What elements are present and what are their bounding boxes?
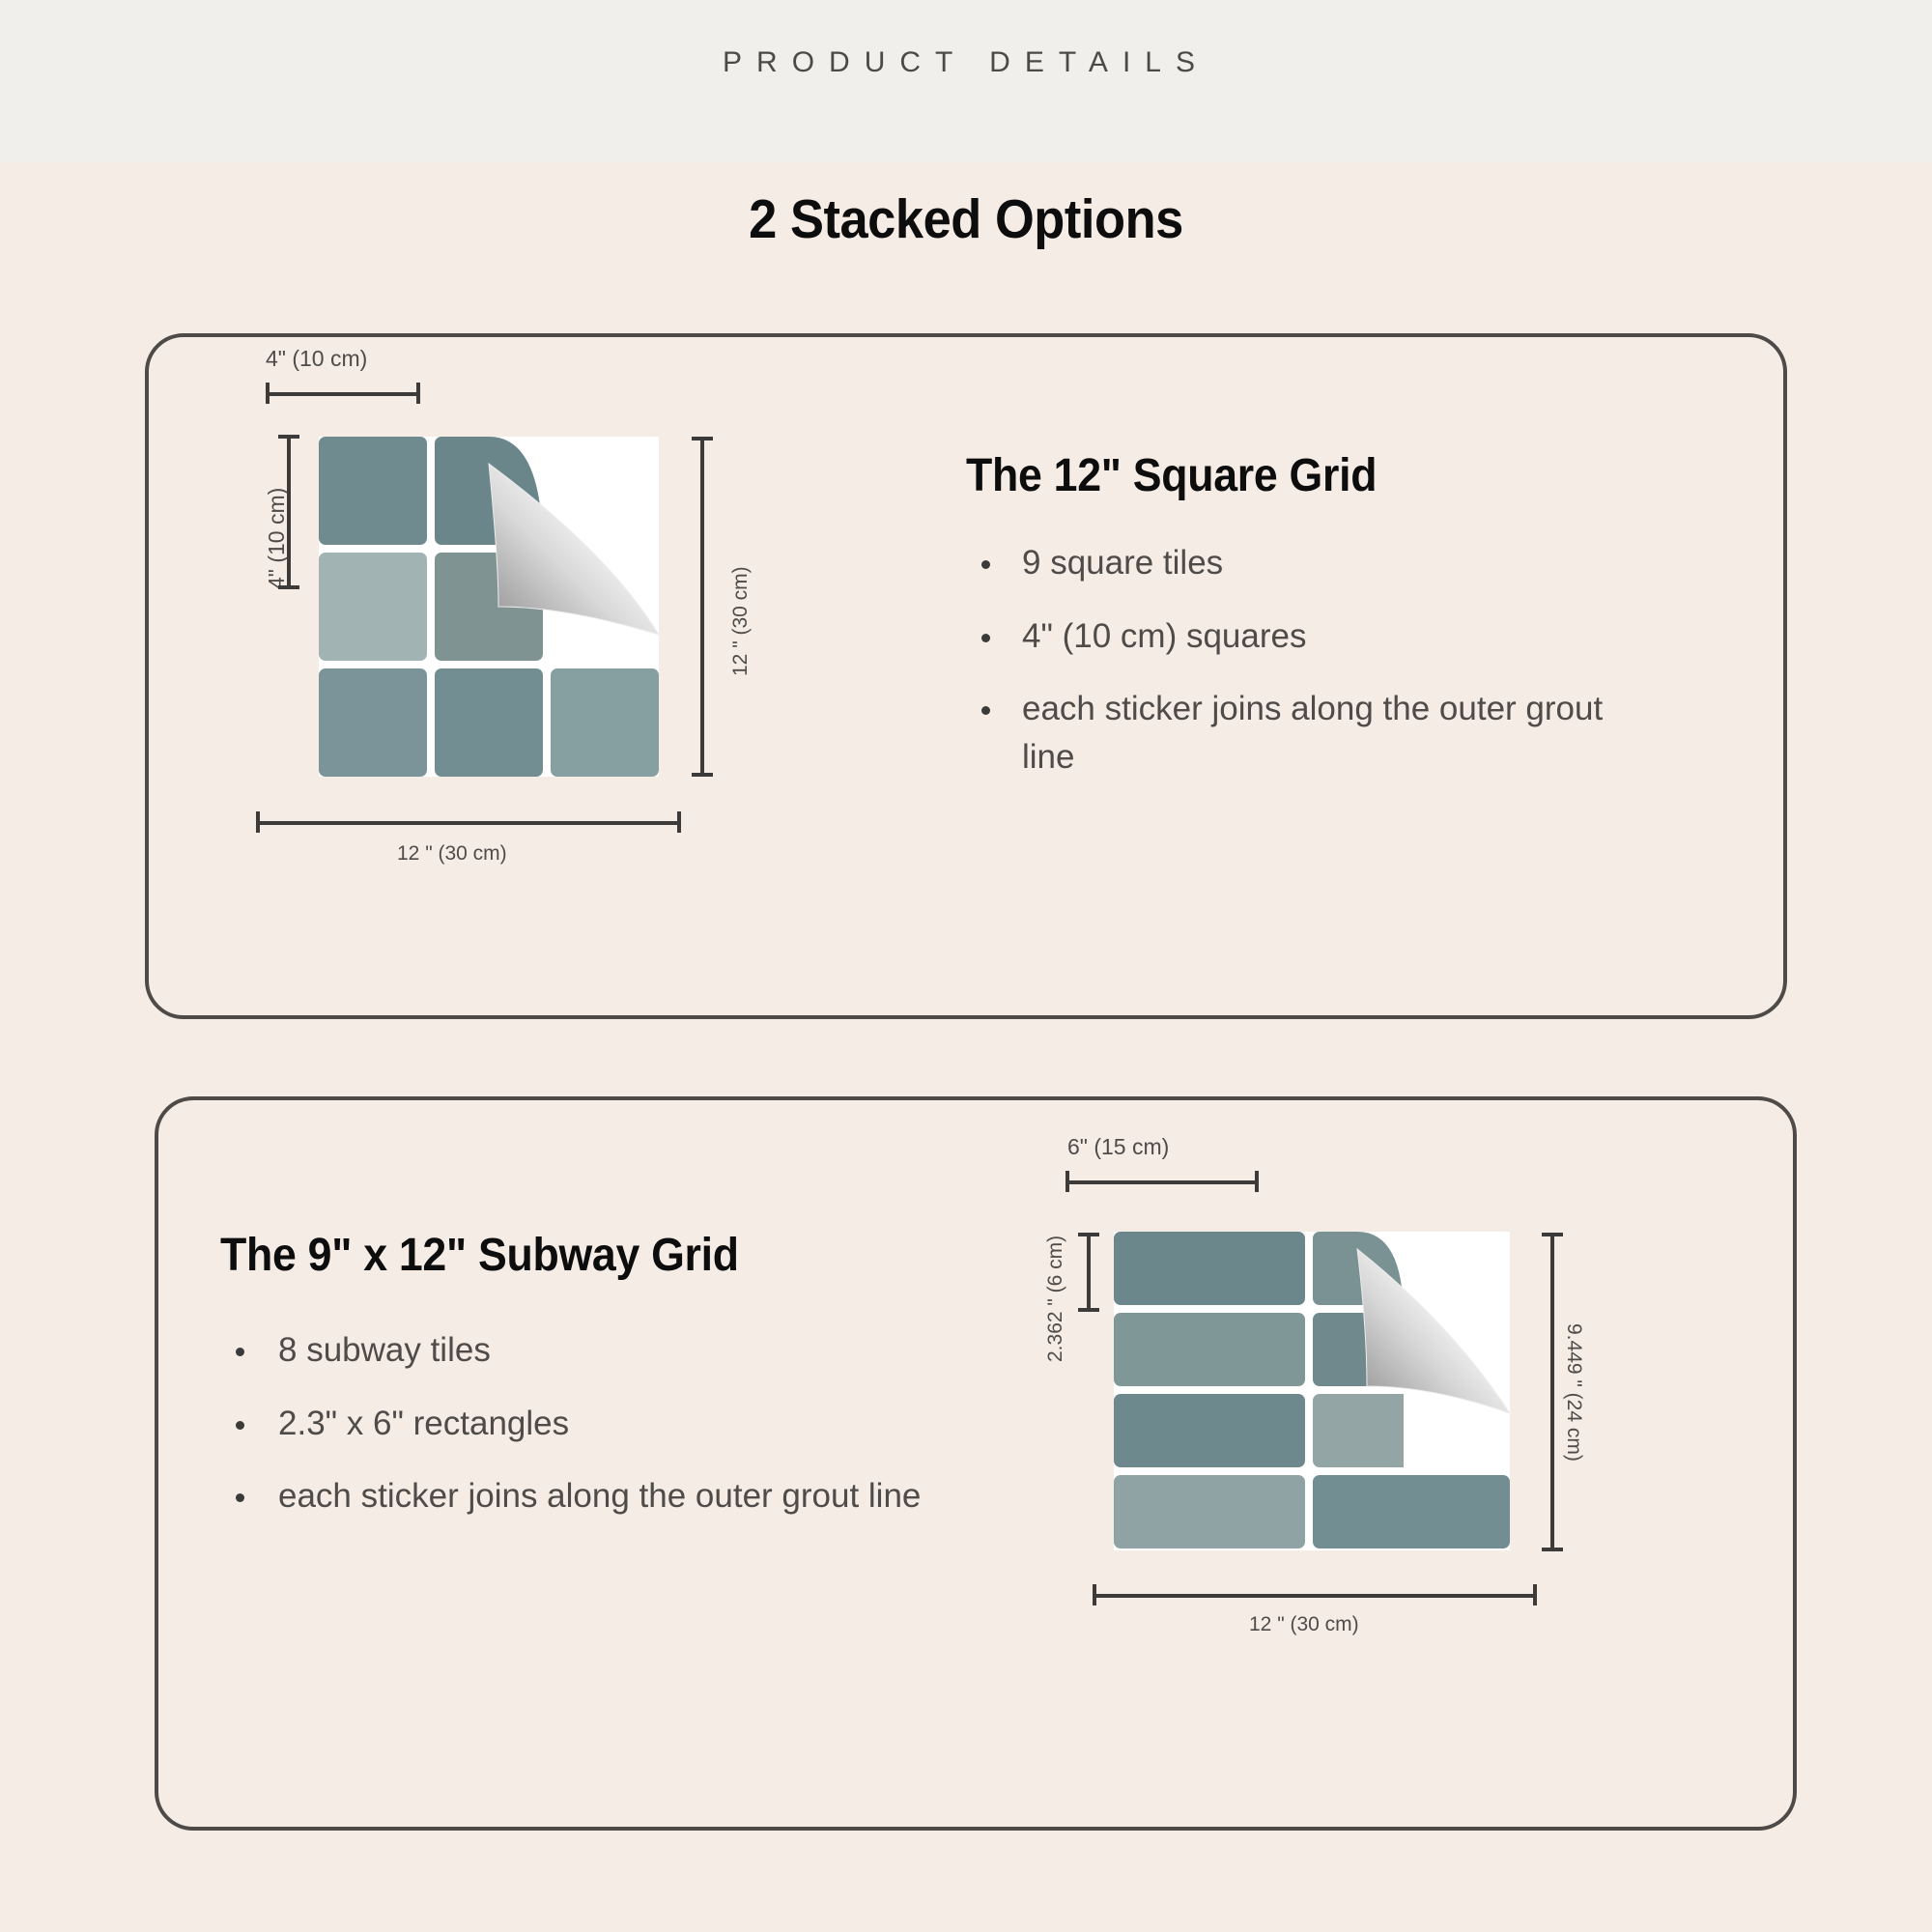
dimension-label-left: 4" (10 cm) <box>264 488 290 589</box>
dimension-cap <box>1542 1233 1563 1236</box>
option-bullet-list: 9 square tiles 4" (10 cm) squares each s… <box>966 539 1642 781</box>
dimension-cap <box>278 585 299 589</box>
tile-sheet-subway <box>1114 1232 1510 1550</box>
dimension-label-bottom: 12 " (30 cm) <box>1249 1613 1359 1636</box>
tile <box>551 553 659 661</box>
eyebrow-label: PRODUCT DETAILS <box>0 46 1932 79</box>
option-bullet-list: 8 subway tiles 2.3" x 6" rectangles each… <box>220 1326 954 1520</box>
dimension-cap <box>677 811 681 833</box>
option-text-square-grid: The 12" Square Grid 9 square tiles 4" (1… <box>966 449 1642 807</box>
dimension-line-left <box>287 435 291 589</box>
tile <box>1313 1475 1510 1548</box>
tile <box>435 668 543 777</box>
tile <box>319 553 427 661</box>
tile <box>1114 1475 1305 1548</box>
tile <box>1313 1313 1510 1386</box>
tile <box>1114 1394 1305 1467</box>
dimension-line-left <box>1087 1233 1091 1312</box>
tile <box>1313 1394 1510 1467</box>
option-text-subway-grid: The 9" x 12" Subway Grid 8 subway tiles … <box>220 1229 954 1546</box>
tile <box>551 668 659 777</box>
dimension-cap <box>1065 1171 1069 1192</box>
tile-sheet-square <box>319 437 659 777</box>
list-item: each sticker joins along the outer grout… <box>966 685 1642 781</box>
dimension-cap <box>692 437 713 440</box>
dimension-cap <box>1078 1308 1099 1312</box>
dimension-cap <box>1255 1171 1259 1192</box>
dimension-cap <box>1078 1233 1099 1236</box>
dimension-line-top <box>266 392 420 396</box>
dimension-cap <box>256 811 260 833</box>
dimension-label-right: 12 " (30 cm) <box>729 566 753 676</box>
dimension-line-bottom <box>1093 1594 1537 1598</box>
dimension-line-top <box>1065 1180 1259 1184</box>
tile <box>1114 1232 1305 1305</box>
dimension-cap <box>1542 1548 1563 1551</box>
dimension-cap <box>1533 1584 1537 1605</box>
option-heading: The 12" Square Grid <box>966 449 1595 502</box>
dimension-cap <box>692 773 713 777</box>
list-item: 8 subway tiles <box>220 1326 954 1375</box>
list-item: each sticker joins along the outer grout… <box>220 1472 954 1520</box>
dimension-cap <box>1093 1584 1096 1605</box>
dimension-line-right <box>1550 1233 1554 1551</box>
dimension-cap <box>416 383 420 404</box>
tile <box>1114 1313 1305 1386</box>
tile <box>435 553 543 661</box>
tile <box>319 437 427 545</box>
option-heading: The 9" x 12" Subway Grid <box>220 1229 903 1282</box>
list-item: 4" (10 cm) squares <box>966 612 1642 661</box>
tile <box>435 437 543 545</box>
dimension-label-bottom: 12 " (30 cm) <box>397 842 507 866</box>
dimension-cap <box>278 435 299 439</box>
header-band <box>0 0 1932 162</box>
list-item: 9 square tiles <box>966 539 1642 587</box>
dimension-line-right <box>700 437 704 777</box>
tile <box>319 668 427 777</box>
page-title: 2 Stacked Options <box>77 187 1855 251</box>
dimension-line-bottom <box>256 821 681 825</box>
dimension-cap <box>266 383 270 404</box>
list-item: 2.3" x 6" rectangles <box>220 1400 954 1448</box>
dimension-label-top: 6" (15 cm) <box>1067 1134 1169 1160</box>
dimension-label-right: 9.449 " (24 cm) <box>1562 1323 1585 1462</box>
dimension-label-top: 4" (10 cm) <box>266 346 367 372</box>
dimension-label-left: 2.362 " (6 cm) <box>1044 1236 1067 1362</box>
tile <box>1313 1232 1510 1305</box>
